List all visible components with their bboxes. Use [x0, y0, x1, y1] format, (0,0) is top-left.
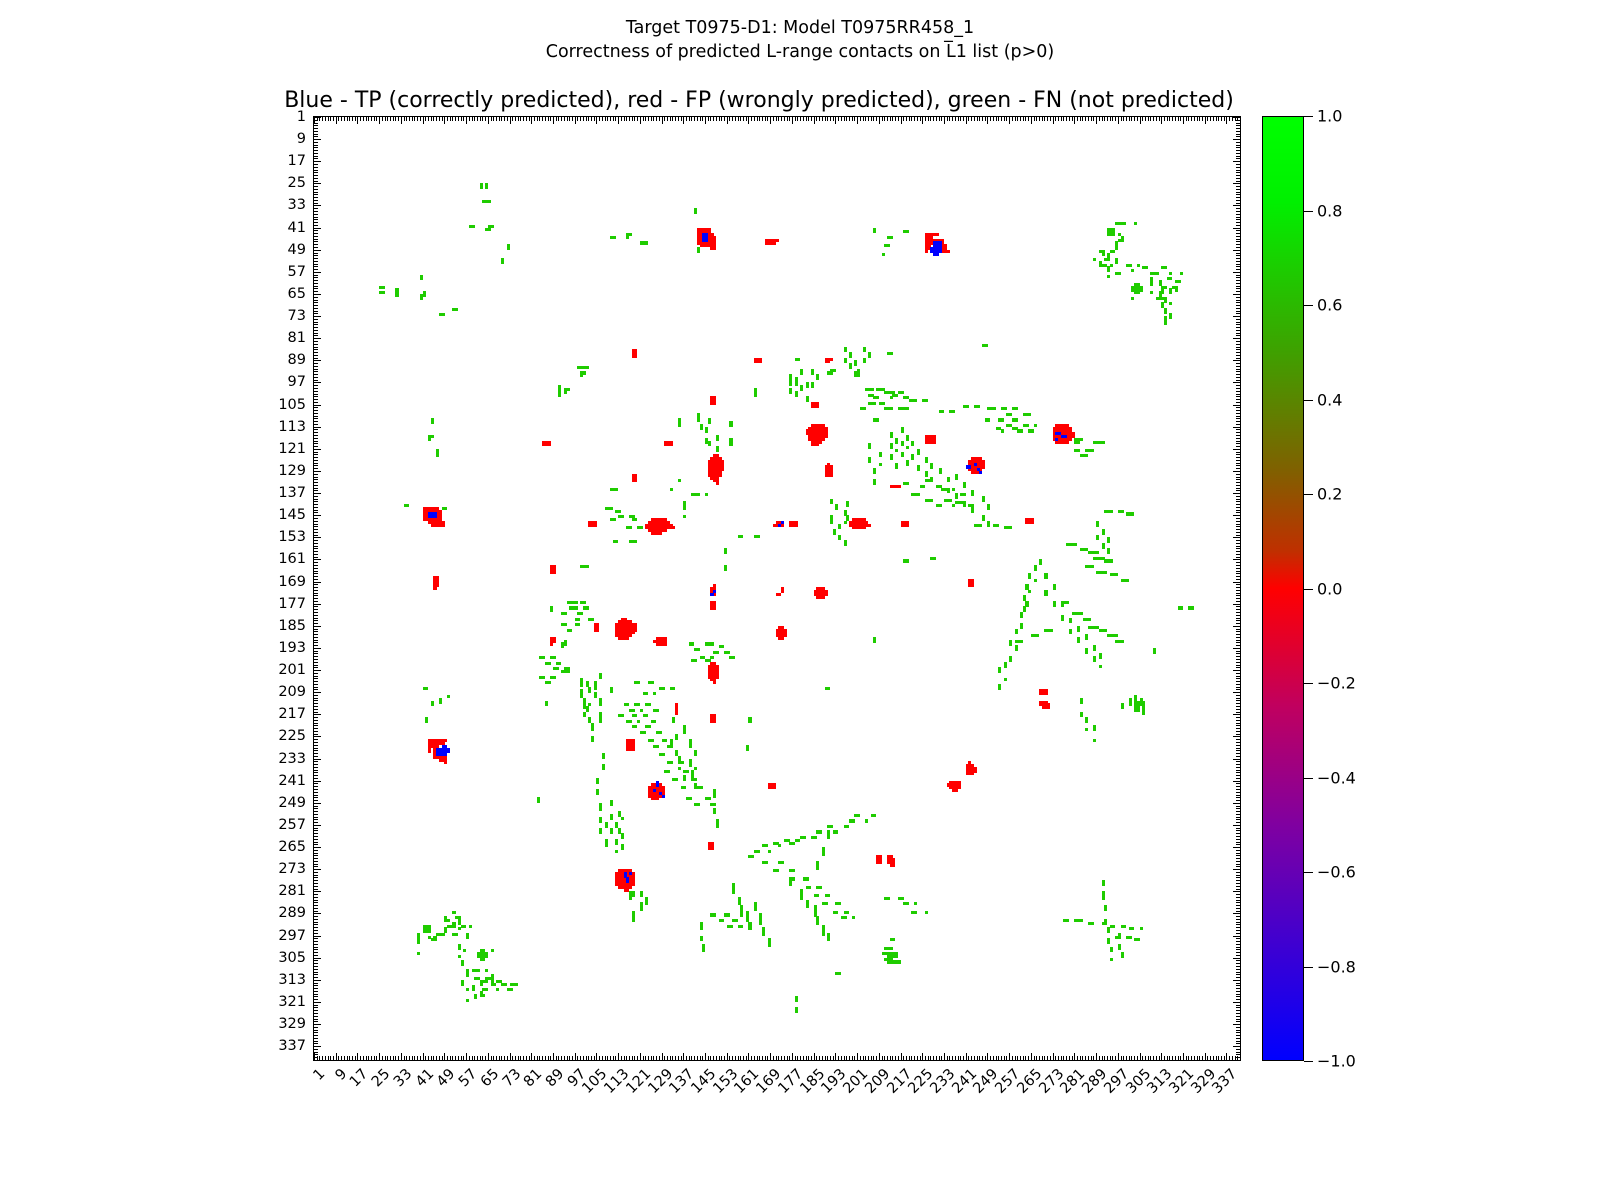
x-tick-minor — [901, 117, 902, 124]
y-tick-minor — [314, 424, 318, 425]
y-tick-minor — [314, 797, 318, 798]
y-tick-minor — [1236, 916, 1240, 917]
y-tick-minor — [1236, 347, 1240, 348]
x-tick-minor — [433, 117, 434, 121]
y-tick-minor — [314, 839, 318, 840]
cell-fn — [890, 352, 893, 355]
x-tick-minor — [480, 117, 481, 121]
x-tick-minor — [1126, 117, 1127, 121]
cell-fn — [629, 233, 632, 236]
cell-fn — [1091, 565, 1094, 568]
y-tick-minor — [1236, 175, 1240, 176]
x-tick-minor — [827, 117, 828, 121]
x-tick-minor — [444, 117, 445, 124]
y-tick-minor — [314, 294, 321, 295]
y-tick-minor — [314, 999, 318, 1000]
x-tick-minor — [778, 117, 779, 121]
y-tick-minor — [314, 277, 318, 278]
y-tick-minor — [314, 485, 318, 486]
cell-fn — [605, 825, 608, 828]
y-tick-minor — [1233, 537, 1240, 538]
x-tick-minor — [1110, 117, 1111, 121]
x-tick-minor — [632, 117, 633, 121]
x-tick-minor — [1180, 117, 1181, 121]
y-tick-minor — [1236, 839, 1240, 840]
y-tick-minor — [314, 1057, 318, 1058]
cell-fn — [640, 908, 643, 911]
y-tick-minor — [314, 319, 318, 320]
y-tick-minor — [314, 770, 318, 771]
cell-fn — [890, 435, 893, 438]
y-tick-minor — [314, 631, 318, 632]
cell-fn — [1039, 562, 1042, 565]
x-tick-minor — [510, 1053, 511, 1060]
x-tick-minor — [355, 117, 356, 121]
x-tick-minor — [890, 117, 891, 121]
cell-fn — [455, 933, 458, 936]
cell-fp — [974, 770, 977, 773]
cell-fn — [835, 911, 838, 914]
y-tick-minor — [314, 327, 318, 328]
y-tick-minor — [314, 814, 318, 815]
x-tick-minor — [670, 1056, 671, 1060]
x-tick-minor — [719, 117, 720, 121]
y-tick-minor — [1236, 1016, 1240, 1017]
y-tick-minor — [1236, 319, 1240, 320]
y-tick-minor — [1236, 811, 1240, 812]
y-tick-label: 33 — [288, 197, 306, 213]
cell-tp — [974, 463, 977, 466]
cell-fn — [1009, 642, 1012, 645]
y-tick-minor — [314, 673, 318, 674]
cell-fn — [575, 606, 578, 609]
y-tick-minor — [1236, 952, 1240, 953]
cell-tp — [626, 880, 629, 883]
y-tick-minor — [314, 725, 318, 726]
x-tick-minor — [474, 1056, 475, 1060]
x-tick-minor — [863, 1056, 864, 1060]
y-tick-minor — [1236, 302, 1240, 303]
y-tick-minor — [1236, 723, 1240, 724]
cell-fn — [461, 963, 464, 966]
cell-fp — [776, 239, 779, 242]
cell-fn — [716, 438, 719, 441]
x-tick-minor — [398, 1056, 399, 1060]
y-tick-minor — [1233, 803, 1240, 804]
cell-fn — [1025, 424, 1028, 427]
x-tick-minor — [469, 1056, 470, 1060]
y-tick-minor — [1236, 333, 1240, 334]
y-tick-minor — [1236, 1005, 1240, 1006]
cell-tp — [710, 593, 713, 596]
y-tick-minor — [1236, 620, 1240, 621]
cell-fn — [797, 839, 800, 842]
y-tick-minor — [1236, 853, 1240, 854]
y-tick-minor — [1233, 493, 1240, 494]
cell-fn — [1161, 291, 1164, 294]
y-tick-minor — [1236, 391, 1240, 392]
y-tick-minor — [1236, 1027, 1240, 1028]
cell-fn — [890, 236, 893, 239]
cell-fn — [1126, 579, 1129, 582]
cell-fn — [727, 913, 730, 916]
cell-fn — [1044, 593, 1047, 596]
cell-fn — [648, 725, 651, 728]
y-tick-minor — [1236, 819, 1240, 820]
y-tick-minor — [1236, 474, 1240, 475]
y-tick-minor — [314, 706, 318, 707]
y-tick-label: 337 — [278, 1038, 306, 1054]
x-tick-minor — [607, 117, 608, 121]
y-tick-label: 233 — [278, 751, 306, 767]
cell-fn — [873, 230, 876, 233]
y-tick-minor — [314, 1046, 321, 1047]
y-tick-minor — [1236, 485, 1240, 486]
y-tick-label: 265 — [278, 839, 306, 855]
cell-fn — [1107, 275, 1110, 278]
cell-fn — [507, 247, 510, 250]
x-tick-minor — [1115, 117, 1116, 121]
cell-fp — [629, 886, 632, 889]
cell-fn — [835, 830, 838, 833]
y-tick-minor — [314, 477, 318, 478]
y-tick-minor — [314, 618, 318, 619]
cell-fn — [735, 919, 738, 922]
cell-fn — [694, 767, 697, 770]
x-tick-minor — [1004, 1056, 1005, 1060]
y-tick-minor — [1233, 714, 1240, 715]
y-tick-minor — [1236, 609, 1240, 610]
y-tick-minor — [314, 134, 318, 135]
cell-fn — [977, 405, 980, 408]
y-tick-minor — [314, 756, 318, 757]
y-tick-minor — [1236, 477, 1240, 478]
y-tick-minor — [314, 842, 318, 843]
x-tick-minor — [1020, 1056, 1021, 1060]
y-tick-minor — [314, 977, 318, 978]
y-tick-label: 321 — [278, 994, 306, 1010]
x-tick-minor — [344, 1056, 345, 1060]
y-tick-minor — [314, 825, 321, 826]
y-tick-minor — [1236, 678, 1240, 679]
cell-fn — [1178, 280, 1181, 283]
cell-fn — [675, 736, 678, 739]
y-tick-minor — [314, 405, 321, 406]
x-tick-minor — [444, 1053, 445, 1060]
cell-fn — [645, 902, 648, 905]
x-tick-minor — [800, 117, 801, 121]
x-tick-minor — [887, 117, 888, 121]
cell-fn — [1091, 449, 1094, 452]
y-tick-minor — [1236, 822, 1240, 823]
cell-fn — [599, 808, 602, 811]
y-tick-minor — [1236, 217, 1240, 218]
cell-fn — [485, 955, 488, 958]
y-tick-minor — [1236, 830, 1240, 831]
y-tick-minor — [1236, 507, 1240, 508]
cell-fn — [1080, 919, 1083, 922]
cell-fn — [1020, 429, 1023, 432]
y-tick-minor — [1236, 308, 1240, 309]
cell-fn — [838, 537, 841, 540]
cell-tp — [968, 465, 971, 468]
cell-fn — [895, 955, 898, 958]
y-tick-minor — [314, 266, 318, 267]
x-tick-minor — [363, 1056, 364, 1060]
x-tick-minor — [1036, 1056, 1037, 1060]
cell-fn — [721, 645, 724, 648]
cell-fp — [553, 571, 556, 574]
y-tick-minor — [314, 960, 318, 961]
x-tick-minor — [425, 1056, 426, 1060]
y-tick-minor — [314, 712, 318, 713]
cell-fn — [496, 988, 499, 991]
y-tick-minor — [314, 225, 318, 226]
cell-fn — [906, 438, 909, 441]
y-tick-minor — [1236, 587, 1240, 588]
y-tick-minor — [1236, 297, 1240, 298]
y-tick-minor — [1236, 667, 1240, 668]
y-tick-minor — [1233, 449, 1240, 450]
x-tick-minor — [1025, 117, 1026, 121]
x-tick-minor — [1012, 117, 1013, 121]
cell-fn — [906, 559, 909, 562]
y-tick-minor — [1236, 783, 1240, 784]
x-tick-minor — [1121, 1056, 1122, 1060]
y-tick-minor — [314, 123, 318, 124]
x-tick-minor — [1080, 117, 1081, 121]
y-tick-minor — [314, 590, 318, 591]
y-tick-minor — [1236, 645, 1240, 646]
x-tick-minor — [1161, 117, 1162, 124]
y-tick-minor — [1236, 418, 1240, 419]
y-tick-minor — [314, 855, 318, 856]
x-tick-minor — [515, 117, 516, 121]
y-tick-minor — [314, 908, 318, 909]
x-tick-minor — [1188, 117, 1189, 121]
cell-fn — [754, 908, 757, 911]
cell-fn — [466, 999, 469, 1002]
x-tick-minor — [1123, 117, 1124, 121]
x-tick-minor — [577, 1056, 578, 1060]
x-tick-label: 9 — [332, 1066, 350, 1084]
cell-fn — [868, 446, 871, 449]
x-tick-minor — [914, 117, 915, 121]
cell-fn — [757, 535, 760, 538]
y-tick-minor — [314, 510, 318, 511]
y-tick-minor — [314, 568, 318, 569]
cell-fn — [618, 510, 621, 513]
cell-fn — [1028, 576, 1031, 579]
x-tick-minor — [496, 117, 497, 121]
cell-fn — [1001, 418, 1004, 421]
x-tick-minor — [740, 117, 741, 121]
cell-fp — [868, 524, 871, 527]
y-tick-minor — [314, 275, 318, 276]
cell-fn — [433, 938, 436, 941]
cell-fp — [436, 584, 439, 587]
y-tick-minor — [1236, 407, 1240, 408]
x-tick-minor — [1034, 1056, 1035, 1060]
x-tick-minor — [1226, 1053, 1227, 1060]
y-tick-minor — [314, 579, 318, 580]
y-tick-minor — [1236, 358, 1240, 359]
cell-fn — [580, 374, 583, 377]
x-tick-minor — [1229, 1056, 1230, 1060]
x-tick-minor — [1063, 1056, 1064, 1060]
cell-fn — [792, 869, 795, 872]
y-tick-minor — [314, 407, 318, 408]
x-tick-minor — [1180, 1056, 1181, 1060]
cell-fn — [895, 441, 898, 444]
x-tick-minor — [599, 117, 600, 121]
x-tick-minor — [409, 117, 410, 121]
x-tick-minor — [368, 117, 369, 121]
x-tick-minor — [811, 117, 812, 121]
x-tick-minor — [683, 1053, 684, 1060]
cell-fp — [982, 465, 985, 468]
cell-fn — [1025, 604, 1028, 607]
x-tick-minor — [1142, 117, 1143, 121]
cell-fp — [816, 443, 819, 446]
x-tick-minor — [1213, 117, 1214, 121]
cell-fp — [827, 360, 830, 363]
cell-fn — [442, 933, 445, 936]
x-tick-minor — [746, 117, 747, 121]
cell-fn — [548, 681, 551, 684]
cell-fn — [1009, 526, 1012, 529]
y-tick-label: 273 — [278, 861, 306, 877]
cell-fn — [708, 797, 711, 800]
y-tick-minor — [1236, 145, 1240, 146]
cell-fn — [882, 253, 885, 256]
x-tick-minor — [371, 1056, 372, 1060]
y-tick-minor — [1236, 797, 1240, 798]
y-tick-minor — [1233, 670, 1240, 671]
x-tick-minor — [876, 117, 877, 121]
y-tick-minor — [1236, 983, 1240, 984]
y-tick-minor — [1233, 427, 1240, 428]
x-tick-minor — [414, 117, 415, 121]
colorbar-tick — [1304, 967, 1313, 968]
cell-fn — [444, 507, 447, 510]
x-tick-minor — [379, 1053, 380, 1060]
y-tick-minor — [1236, 197, 1240, 198]
x-tick-minor — [1131, 117, 1132, 121]
cell-fp — [781, 590, 784, 593]
y-tick-minor — [314, 217, 318, 218]
cell-fp — [629, 634, 632, 637]
cell-fn — [629, 720, 632, 723]
x-tick-minor — [1194, 1056, 1195, 1060]
cell-fn — [545, 703, 548, 706]
cell-fn — [710, 642, 713, 645]
x-tick-minor — [767, 117, 768, 121]
x-tick-minor — [825, 1056, 826, 1060]
y-tick-label: 281 — [278, 883, 306, 899]
cell-fn — [1020, 626, 1023, 629]
y-tick-minor — [1236, 631, 1240, 632]
cell-fn — [800, 897, 803, 900]
y-tick-minor — [314, 261, 318, 262]
cell-fn — [670, 488, 673, 491]
x-tick-minor — [1015, 1056, 1016, 1060]
x-tick-minor — [996, 117, 997, 121]
x-tick-minor — [404, 117, 405, 121]
x-tick-minor — [1112, 117, 1113, 121]
cell-fn — [800, 388, 803, 391]
x-tick-minor — [442, 1056, 443, 1060]
x-tick-minor — [776, 1056, 777, 1060]
cell-fn — [1137, 709, 1140, 712]
cell-fn — [694, 753, 697, 756]
x-tick-minor — [640, 1053, 641, 1060]
x-tick-minor — [406, 1056, 407, 1060]
cell-fn — [564, 612, 567, 615]
y-tick-minor — [314, 781, 321, 782]
x-tick-minor — [1050, 1056, 1051, 1060]
cell-fn — [1118, 947, 1121, 950]
cell-fp — [634, 629, 637, 632]
y-tick-minor — [1236, 322, 1240, 323]
y-tick-minor — [314, 208, 318, 209]
x-tick-minor — [1226, 117, 1227, 124]
x-tick-minor — [816, 117, 817, 121]
y-tick-minor — [1236, 930, 1240, 931]
cell-fn — [844, 916, 847, 919]
cell-fn — [876, 396, 879, 399]
cell-fn — [602, 767, 605, 770]
cell-tp — [653, 789, 656, 792]
x-tick-minor — [1150, 117, 1151, 121]
y-tick-minor — [1236, 482, 1240, 483]
x-tick-minor — [1074, 1053, 1075, 1060]
cell-fn — [656, 709, 659, 712]
x-tick-minor — [1036, 117, 1037, 121]
x-tick-minor — [884, 1056, 885, 1060]
cell-tp — [1055, 438, 1058, 441]
y-tick-minor — [314, 872, 318, 873]
y-tick-minor — [314, 689, 318, 690]
y-tick-minor — [314, 211, 318, 212]
x-tick-minor — [1156, 117, 1157, 121]
y-tick-minor — [314, 919, 318, 920]
x-tick-minor — [936, 117, 937, 121]
y-tick-minor — [1236, 219, 1240, 220]
y-tick-minor — [1233, 272, 1240, 273]
cell-fn — [697, 648, 700, 651]
x-tick-minor — [1159, 1056, 1160, 1060]
cell-fn — [716, 825, 719, 828]
y-tick-minor — [314, 836, 318, 837]
cell-fn — [1093, 739, 1096, 742]
y-tick-minor — [314, 1054, 318, 1055]
cell-fn — [653, 692, 656, 695]
x-tick-minor — [480, 1056, 481, 1060]
y-tick-minor — [314, 1041, 318, 1042]
y-tick-minor — [1236, 371, 1240, 372]
cell-fn — [436, 454, 439, 457]
y-tick-minor — [314, 656, 318, 657]
x-tick-minor — [710, 117, 711, 121]
x-tick-minor — [1207, 117, 1208, 121]
y-tick-minor — [1236, 1007, 1240, 1008]
cell-fn — [1102, 441, 1105, 444]
cell-fn — [724, 568, 727, 571]
x-tick-minor — [531, 117, 532, 124]
x-tick-minor — [1183, 117, 1184, 124]
y-tick-minor — [314, 811, 318, 812]
